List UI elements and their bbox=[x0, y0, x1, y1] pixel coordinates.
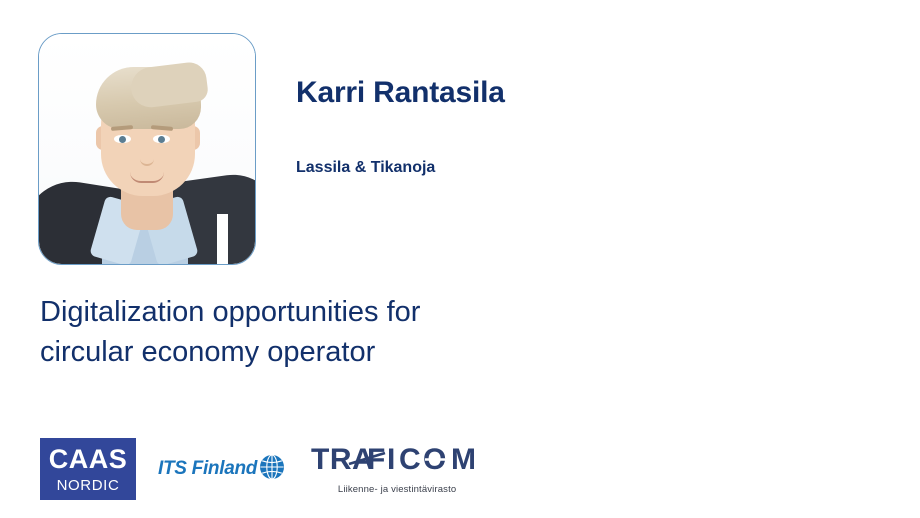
its-finland-wordmark: ITS Finland bbox=[158, 458, 257, 480]
presentation-slide: Karri Rantasila Lassila & Tikanoja Digit… bbox=[0, 0, 920, 518]
eye-left bbox=[114, 135, 131, 143]
svg-text:1 540 62: 1 540 62 bbox=[646, 149, 681, 159]
speaker-photo-frame bbox=[38, 33, 256, 265]
traficom-wordmark-mark: TRA F I C O M bbox=[311, 444, 483, 481]
svg-text:F: F bbox=[367, 444, 386, 476]
caas-wordmark: CAAS bbox=[49, 446, 128, 473]
speaker-name: Karri Rantasila bbox=[296, 76, 505, 110]
globe-icon bbox=[259, 454, 285, 485]
caas-subtext: NORDIC bbox=[57, 478, 120, 493]
logo-traficom: TRA F I C O M Liikenne- ja viestintävira… bbox=[311, 444, 483, 495]
speaker-organization: Lassila & Tikanoja bbox=[296, 159, 435, 177]
svg-text:C: C bbox=[399, 444, 421, 476]
svg-text:200 08: 200 08 bbox=[642, 100, 670, 110]
pupil-left bbox=[119, 136, 126, 143]
logo-bar: CAAS NORDIC ITS Finland bbox=[40, 437, 483, 501]
slide-title: Digitalization opportunities for circula… bbox=[40, 292, 510, 372]
speaker-photo bbox=[39, 34, 255, 264]
photo-white-bar-artifact bbox=[217, 214, 228, 264]
diamond-mosaic-graphic: 200 08 1 540 62 25 043 38 bbox=[580, 0, 920, 518]
svg-text:I: I bbox=[387, 444, 396, 476]
svg-text:M: M bbox=[451, 444, 477, 476]
logo-its-finland: ITS Finland bbox=[158, 454, 285, 485]
pupil-right bbox=[158, 136, 165, 143]
traficom-tagline: Liikenne- ja viestintävirasto bbox=[338, 484, 456, 495]
nose bbox=[140, 146, 154, 166]
eye-right bbox=[153, 135, 170, 143]
logo-caas-nordic: CAAS NORDIC bbox=[40, 438, 136, 500]
